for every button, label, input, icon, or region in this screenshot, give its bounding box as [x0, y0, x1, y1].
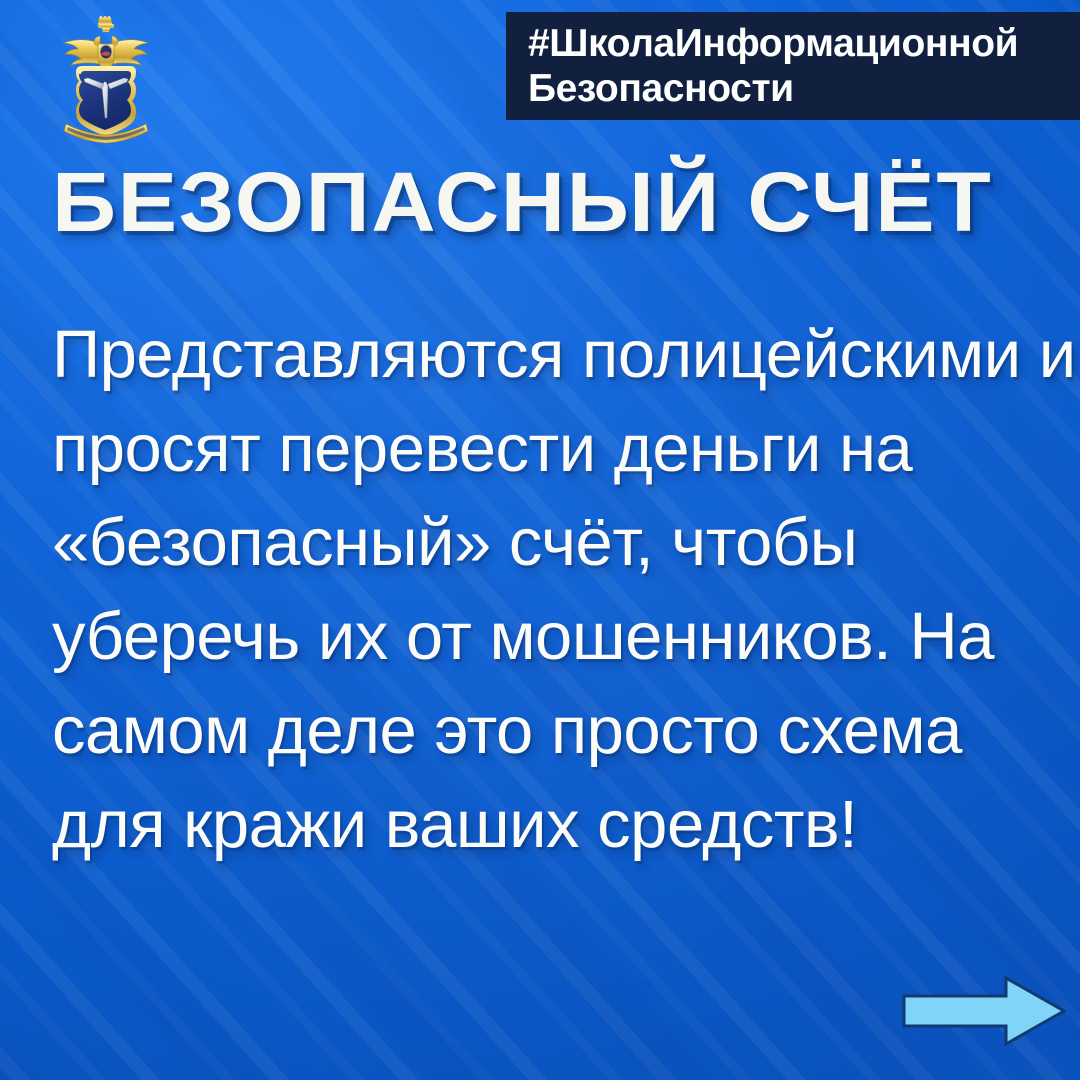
shield-part: [76, 66, 136, 136]
hashtag-badge: #ШколаИнформационной Безопасности: [506, 12, 1080, 120]
body-line: для кражи ваших средств!: [52, 778, 1052, 872]
arrow-right-icon[interactable]: [902, 976, 1066, 1046]
hashtag-line-2: Безопасности: [528, 66, 1080, 111]
hashtag-line-1: #ШколаИнформационной: [528, 21, 1080, 66]
body-line: Представляются полицейскими и: [52, 308, 1052, 402]
body-line: самом деле это просто схема: [52, 684, 1052, 778]
body-text: Представляются полицейскими и просят пер…: [52, 308, 1052, 872]
poster-slide: #ШколаИнформационной Безопасности БЕЗОПА…: [0, 0, 1080, 1080]
page-title: БЕЗОПАСНЫЙ СЧЁТ: [52, 159, 1080, 245]
body-line: «безопасный» счёт, чтобы: [52, 496, 1052, 590]
body-line: просят перевести деньги на: [52, 402, 1052, 496]
mvd-emblem-icon: [52, 12, 160, 154]
crown-part: [98, 16, 114, 32]
body-line: уберечь их от мошенников. На: [52, 590, 1052, 684]
